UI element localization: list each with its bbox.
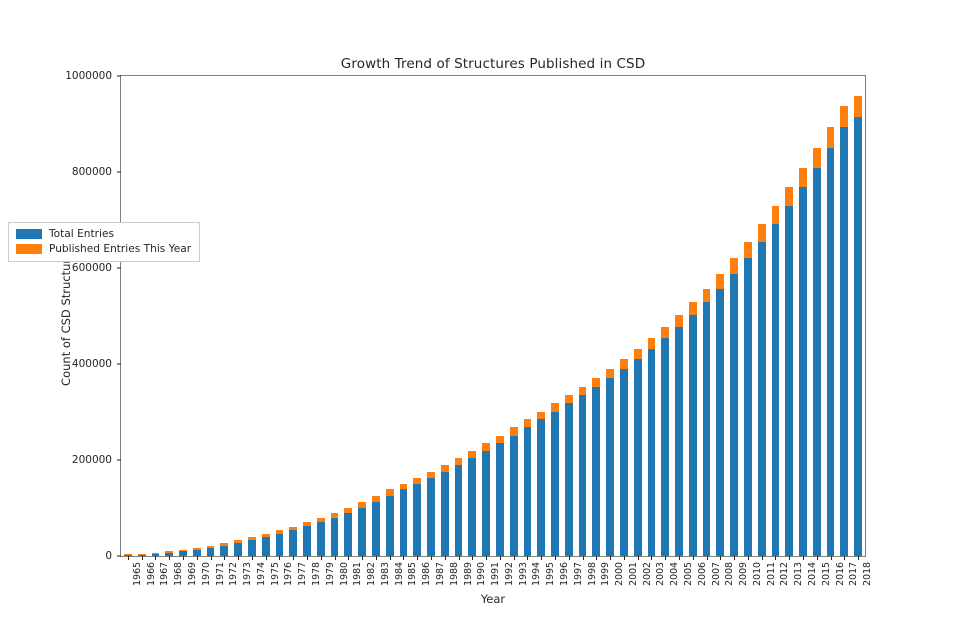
bar-group[interactable] (620, 359, 628, 556)
bar-group[interactable] (675, 315, 683, 556)
bar-group[interactable] (289, 526, 297, 556)
bar-group[interactable] (716, 274, 724, 556)
x-tick-label: 1999 (600, 562, 611, 586)
x-tick-mark (707, 556, 708, 560)
x-tick-label: 1981 (352, 562, 363, 586)
bar-segment-published-this-year[interactable] (248, 537, 256, 540)
bar-segment-total-entries[interactable] (620, 369, 628, 556)
bar-group[interactable] (331, 513, 339, 556)
bar-segment-total-entries[interactable] (689, 315, 697, 556)
bar-segment-published-this-year[interactable] (661, 327, 669, 338)
bar-group[interactable] (482, 443, 490, 556)
bar-group[interactable] (758, 224, 766, 556)
x-tick-label: 1977 (297, 562, 308, 586)
bar-segment-published-this-year[interactable] (854, 96, 862, 117)
bar-segment-total-entries[interactable] (289, 530, 297, 556)
bar-segment-total-entries[interactable] (606, 378, 614, 556)
bar-segment-total-entries[interactable] (400, 489, 408, 556)
x-tick-label: 2008 (724, 562, 735, 586)
legend-swatch-icon (16, 244, 42, 254)
x-tick-mark (362, 556, 363, 560)
bar-group[interactable] (358, 502, 366, 556)
bar-segment-published-this-year[interactable] (468, 451, 476, 458)
bar-segment-total-entries[interactable] (468, 458, 476, 556)
y-axis-label-text: Count of CSD Structures (59, 246, 73, 386)
bar-segment-published-this-year[interactable] (579, 387, 587, 395)
x-tick-label: 1971 (215, 562, 226, 586)
bar-segment-published-this-year[interactable] (234, 540, 242, 543)
x-tick-mark (155, 556, 156, 560)
x-axis-label: Year (120, 592, 866, 606)
bar-segment-total-entries[interactable] (193, 550, 201, 556)
bar-segment-total-entries[interactable] (551, 412, 559, 556)
bar-group[interactable] (207, 546, 215, 556)
x-tick-mark (431, 556, 432, 560)
x-tick-mark (142, 556, 143, 560)
x-tick-mark (417, 556, 418, 560)
x-tick-mark (583, 556, 584, 560)
bar-segment-published-this-year[interactable] (840, 106, 848, 127)
x-tick-label: 2004 (669, 562, 680, 586)
bar-group[interactable] (689, 302, 697, 556)
bar-segment-published-this-year[interactable] (358, 502, 366, 508)
x-tick-mark (624, 556, 625, 560)
x-tick-label: 2010 (752, 562, 763, 586)
y-tick-label: 1000000 (65, 70, 121, 82)
bar-segment-total-entries[interactable] (331, 518, 339, 556)
x-tick-label: 1972 (228, 562, 239, 586)
x-tick-label: 1997 (573, 562, 584, 586)
legend-item[interactable]: Published Entries This Year (16, 243, 191, 255)
bar-segment-total-entries[interactable] (482, 451, 490, 556)
bar-group[interactable] (303, 522, 311, 556)
bar-segment-total-entries[interactable] (758, 242, 766, 556)
bar-segment-total-entries[interactable] (537, 419, 545, 556)
x-tick-mark (128, 556, 129, 560)
x-tick-mark (734, 556, 735, 560)
bar-segment-published-this-year[interactable] (648, 338, 656, 349)
x-tick-mark (858, 556, 859, 560)
bar-segment-published-this-year[interactable] (565, 395, 573, 403)
x-tick-label: 2005 (683, 562, 694, 586)
bar-segment-published-this-year[interactable] (716, 274, 724, 289)
x-tick-mark (459, 556, 460, 560)
bar-group[interactable] (234, 540, 242, 556)
bar-segment-total-entries[interactable] (234, 543, 242, 556)
bar-group[interactable] (276, 530, 284, 556)
bar-segment-published-this-year[interactable] (496, 436, 504, 444)
bar-segment-published-this-year[interactable] (620, 359, 628, 369)
x-tick-label: 1975 (270, 562, 281, 586)
x-tick-mark (651, 556, 652, 560)
bar-group[interactable] (413, 478, 421, 556)
bar-segment-published-this-year[interactable] (758, 224, 766, 242)
x-tick-label: 2016 (835, 562, 846, 586)
bar-group[interactable] (400, 484, 408, 556)
x-tick-label: 2001 (628, 562, 639, 586)
x-tick-mark (403, 556, 404, 560)
bar-segment-total-entries[interactable] (124, 555, 132, 556)
bar-group[interactable] (179, 550, 187, 556)
x-tick-mark (527, 556, 528, 560)
bar-group[interactable] (165, 551, 173, 556)
bar-segment-published-this-year[interactable] (413, 478, 421, 484)
bar-segment-published-this-year[interactable] (386, 489, 394, 496)
bar-segment-published-this-year[interactable] (524, 419, 532, 427)
bar-segment-total-entries[interactable] (496, 443, 504, 556)
bar-group[interactable] (441, 465, 449, 556)
bar-segment-total-entries[interactable] (565, 403, 573, 556)
bar-segment-published-this-year[interactable] (372, 496, 380, 502)
bar-group[interactable] (152, 553, 160, 557)
x-tick-mark (307, 556, 308, 560)
bar-group[interactable] (344, 508, 352, 556)
x-tick-mark (569, 556, 570, 560)
x-tick-label: 1965 (132, 562, 143, 586)
x-tick-label: 1993 (518, 562, 529, 586)
x-tick-label: 2014 (807, 562, 818, 586)
bar-segment-published-this-year[interactable] (303, 522, 311, 526)
x-tick-mark (321, 556, 322, 560)
bar-segment-total-entries[interactable] (840, 127, 848, 556)
x-tick-label: 2007 (711, 562, 722, 586)
x-tick-mark (693, 556, 694, 560)
bar-segment-published-this-year[interactable] (331, 513, 339, 518)
x-tick-label: 2015 (821, 562, 832, 586)
bar-segment-published-this-year[interactable] (289, 527, 297, 531)
x-tick-label: 1991 (490, 562, 501, 586)
x-tick-label: 2012 (779, 562, 790, 586)
bar-segment-total-entries[interactable] (413, 484, 421, 556)
x-tick-mark (445, 556, 446, 560)
bar-segment-published-this-year[interactable] (400, 484, 408, 489)
bar-group[interactable] (386, 489, 394, 556)
bar-segment-published-this-year[interactable] (785, 187, 793, 205)
bar-segment-published-this-year[interactable] (537, 412, 545, 420)
bar-group[interactable] (606, 369, 614, 556)
x-tick-label: 2011 (766, 562, 777, 586)
x-tick-label: 2006 (697, 562, 708, 586)
x-tick-label: 1994 (531, 562, 542, 586)
bar-segment-published-this-year[interactable] (703, 289, 711, 302)
bar-segment-published-this-year[interactable] (510, 427, 518, 435)
x-tick-mark (610, 556, 611, 560)
bar-segment-published-this-year[interactable] (124, 554, 132, 555)
x-tick-label: 1969 (187, 562, 198, 586)
x-tick-label: 1976 (283, 562, 294, 586)
x-tick-mark (390, 556, 391, 560)
x-tick-label: 1979 (325, 562, 336, 586)
bar-segment-published-this-year[interactable] (317, 518, 325, 523)
y-tick-label: 200000 (72, 454, 121, 466)
bar-segment-published-this-year[interactable] (606, 369, 614, 379)
bar-group[interactable] (579, 387, 587, 556)
plot-area: 02000004000006000008000001000000 1965196… (120, 75, 866, 557)
bar-segment-total-entries[interactable] (317, 522, 325, 556)
bar-group[interactable] (317, 518, 325, 556)
x-tick-label: 2018 (862, 562, 873, 586)
bar-group[interactable] (372, 496, 380, 556)
x-tick-label: 2002 (642, 562, 653, 586)
bar-group[interactable] (524, 419, 532, 556)
bar-segment-published-this-year[interactable] (675, 315, 683, 327)
x-tick-mark (169, 556, 170, 560)
bar-segment-published-this-year[interactable] (482, 443, 490, 451)
x-tick-mark (762, 556, 763, 560)
x-tick-label: 1998 (587, 562, 598, 586)
bar-segment-published-this-year[interactable] (262, 534, 270, 537)
legend-swatch-icon (16, 229, 42, 239)
bar-segment-published-this-year[interactable] (179, 550, 187, 551)
x-tick-mark (211, 556, 212, 560)
bar-segment-total-entries[interactable] (427, 478, 435, 556)
bar-segment-total-entries[interactable] (744, 258, 752, 556)
bar-segment-total-entries[interactable] (730, 274, 738, 556)
bar-segment-published-this-year[interactable] (441, 465, 449, 472)
x-tick-label: 1973 (242, 562, 253, 586)
y-tick-label: 600000 (72, 262, 121, 274)
bar-segment-published-this-year[interactable] (772, 206, 780, 224)
bar-group[interactable] (248, 537, 256, 556)
bar-segment-total-entries[interactable] (220, 546, 228, 556)
bar-group[interactable] (468, 451, 476, 556)
x-tick-label: 1986 (421, 562, 432, 586)
bar-group[interactable] (744, 242, 752, 556)
x-tick-label: 1992 (504, 562, 515, 586)
x-tick-label: 1980 (339, 562, 350, 586)
x-tick-label: 1990 (476, 562, 487, 586)
x-tick-mark (817, 556, 818, 560)
bar-group[interactable] (634, 349, 642, 556)
bar-segment-total-entries[interactable] (179, 551, 187, 556)
chart-legend: Total EntriesPublished Entries This Year (8, 222, 200, 262)
x-tick-mark (238, 556, 239, 560)
bar-group[interactable] (138, 554, 146, 556)
x-tick-mark (348, 556, 349, 560)
x-tick-label: 2013 (793, 562, 804, 586)
bar-segment-total-entries[interactable] (276, 534, 284, 556)
x-tick-mark (197, 556, 198, 560)
bar-group[interactable] (427, 472, 435, 556)
bars-layer (121, 76, 865, 556)
x-tick-mark (831, 556, 832, 560)
bar-segment-total-entries[interactable] (372, 502, 380, 556)
x-tick-label: 1989 (463, 562, 474, 586)
chart-figure: Growth Trend of Structures Published in … (0, 0, 960, 640)
bar-segment-total-entries[interactable] (785, 206, 793, 556)
bar-segment-total-entries[interactable] (358, 508, 366, 556)
x-tick-mark (844, 556, 845, 560)
bar-segment-published-this-year[interactable] (827, 127, 835, 148)
x-tick-mark (665, 556, 666, 560)
bar-group[interactable] (827, 127, 835, 556)
x-tick-mark (596, 556, 597, 560)
x-tick-mark (335, 556, 336, 560)
legend-item-label: Published Entries This Year (49, 243, 191, 255)
x-tick-mark (472, 556, 473, 560)
x-tick-label: 2000 (614, 562, 625, 586)
bar-group[interactable] (510, 427, 518, 556)
bar-segment-published-this-year[interactable] (220, 543, 228, 546)
bar-segment-published-this-year[interactable] (689, 302, 697, 315)
bar-group[interactable] (455, 458, 463, 556)
bar-segment-published-this-year[interactable] (193, 548, 201, 550)
x-tick-mark (638, 556, 639, 560)
chart-title: Growth Trend of Structures Published in … (120, 56, 866, 72)
bar-segment-published-this-year[interactable] (138, 554, 146, 555)
bar-segment-total-entries[interactable] (648, 349, 656, 556)
x-tick-mark (266, 556, 267, 560)
bar-segment-total-entries[interactable] (827, 148, 835, 556)
bar-group[interactable] (565, 395, 573, 556)
x-tick-label: 1987 (435, 562, 446, 586)
x-tick-label: 2003 (655, 562, 666, 586)
x-tick-label: 2017 (848, 562, 859, 586)
x-tick-mark (555, 556, 556, 560)
bar-segment-total-entries[interactable] (152, 554, 160, 556)
bar-segment-total-entries[interactable] (703, 302, 711, 556)
bar-segment-total-entries[interactable] (248, 540, 256, 556)
x-tick-mark (803, 556, 804, 560)
bar-group[interactable] (648, 338, 656, 556)
bar-segment-total-entries[interactable] (303, 526, 311, 556)
x-tick-mark (720, 556, 721, 560)
x-tick-mark (252, 556, 253, 560)
bar-group[interactable] (799, 168, 807, 556)
bar-group[interactable] (813, 148, 821, 556)
bar-segment-published-this-year[interactable] (207, 546, 215, 548)
x-tick-mark (279, 556, 280, 560)
x-tick-label: 1983 (380, 562, 391, 586)
bar-segment-total-entries[interactable] (510, 436, 518, 556)
bar-segment-published-this-year[interactable] (276, 530, 284, 534)
legend-item[interactable]: Total Entries (16, 228, 191, 240)
x-tick-label: 2009 (738, 562, 749, 586)
x-tick-label: 1985 (407, 562, 418, 586)
bar-segment-published-this-year[interactable] (744, 242, 752, 259)
bar-group[interactable] (703, 289, 711, 556)
bar-group[interactable] (551, 403, 559, 556)
x-tick-mark (224, 556, 225, 560)
bar-segment-published-this-year[interactable] (551, 403, 559, 411)
bar-segment-total-entries[interactable] (165, 553, 173, 557)
bar-segment-total-entries[interactable] (579, 395, 587, 556)
bar-segment-total-entries[interactable] (524, 427, 532, 556)
x-tick-label: 1984 (394, 562, 405, 586)
bar-group[interactable] (537, 412, 545, 556)
bar-segment-total-entries[interactable] (813, 168, 821, 556)
bar-group[interactable] (592, 378, 600, 556)
bar-segment-published-this-year[interactable] (165, 551, 173, 552)
x-tick-label: 1995 (545, 562, 556, 586)
x-tick-label: 1967 (159, 562, 170, 586)
bar-group[interactable] (220, 543, 228, 556)
x-tick-label: 1996 (559, 562, 570, 586)
x-tick-mark (789, 556, 790, 560)
bar-group[interactable] (124, 554, 132, 556)
y-tick-label: 800000 (72, 166, 121, 178)
bar-segment-total-entries[interactable] (675, 327, 683, 556)
bar-segment-published-this-year[interactable] (344, 508, 352, 513)
x-tick-label: 1978 (311, 562, 322, 586)
legend-item-label: Total Entries (49, 228, 114, 240)
bar-segment-total-entries[interactable] (262, 537, 270, 556)
bar-segment-total-entries[interactable] (854, 117, 862, 556)
x-tick-mark (183, 556, 184, 560)
x-tick-mark (514, 556, 515, 560)
bar-group[interactable] (772, 206, 780, 556)
bar-segment-published-this-year[interactable] (455, 458, 463, 465)
bar-segment-published-this-year[interactable] (799, 168, 807, 187)
bar-group[interactable] (262, 534, 270, 556)
bar-segment-published-this-year[interactable] (592, 378, 600, 387)
x-tick-mark (293, 556, 294, 560)
x-tick-mark (376, 556, 377, 560)
bar-group[interactable] (661, 327, 669, 556)
bar-segment-total-entries[interactable] (455, 465, 463, 556)
bar-segment-total-entries[interactable] (386, 496, 394, 556)
bar-segment-published-this-year[interactable] (730, 258, 738, 273)
y-axis-label: Count of CSD Structures (57, 75, 75, 557)
y-tick-label: 400000 (72, 358, 121, 370)
bar-segment-published-this-year[interactable] (427, 472, 435, 478)
bar-segment-total-entries[interactable] (772, 224, 780, 556)
bar-segment-published-this-year[interactable] (634, 349, 642, 359)
bar-segment-total-entries[interactable] (592, 387, 600, 556)
bar-segment-total-entries[interactable] (441, 472, 449, 556)
x-tick-mark (775, 556, 776, 560)
bar-group[interactable] (840, 106, 848, 556)
x-tick-mark (679, 556, 680, 560)
bar-segment-published-this-year[interactable] (813, 148, 821, 168)
bar-group[interactable] (496, 436, 504, 556)
bar-segment-total-entries[interactable] (207, 548, 215, 556)
bar-segment-total-entries[interactable] (799, 187, 807, 556)
x-tick-mark (500, 556, 501, 560)
x-tick-label: 1982 (366, 562, 377, 586)
x-tick-label: 1974 (256, 562, 267, 586)
bar-segment-total-entries[interactable] (716, 289, 724, 556)
bar-group[interactable] (730, 258, 738, 556)
x-tick-label: 1988 (449, 562, 460, 586)
x-tick-mark (541, 556, 542, 560)
x-tick-label: 1966 (146, 562, 157, 586)
bar-group[interactable] (193, 548, 201, 556)
x-tick-mark (748, 556, 749, 560)
bar-segment-total-entries[interactable] (138, 554, 146, 556)
bar-segment-total-entries[interactable] (634, 359, 642, 556)
bar-segment-total-entries[interactable] (661, 338, 669, 556)
bar-group[interactable] (854, 96, 862, 556)
x-tick-label: 1970 (201, 562, 212, 586)
x-tick-label: 1968 (173, 562, 184, 586)
bar-segment-total-entries[interactable] (344, 513, 352, 556)
bar-segment-published-this-year[interactable] (152, 553, 160, 554)
x-tick-mark (486, 556, 487, 560)
bar-group[interactable] (785, 187, 793, 556)
